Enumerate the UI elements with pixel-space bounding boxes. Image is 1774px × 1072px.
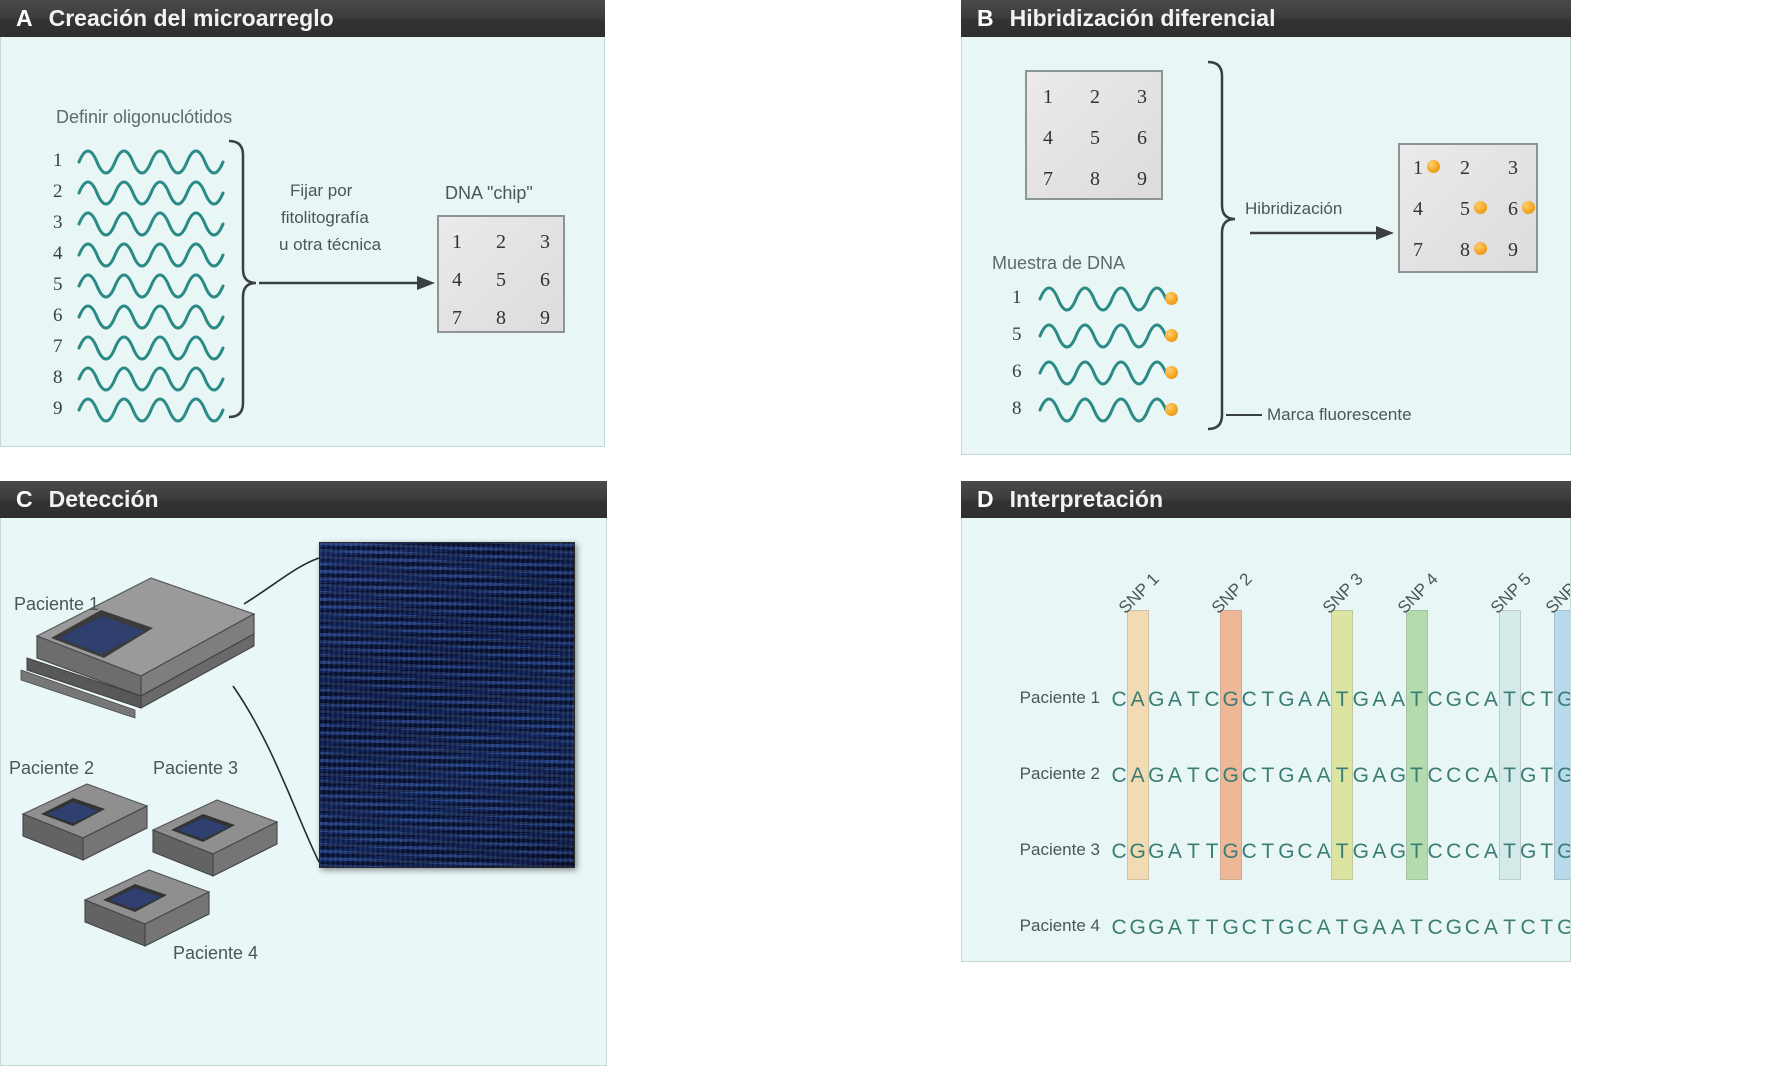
panel-c-title: Detección (49, 486, 159, 513)
panel-b-title: Hibridización diferencial (1010, 5, 1276, 32)
result-cell: 4 (1413, 198, 1423, 221)
fluorescent-dot (1165, 366, 1178, 379)
hybridization-arrow-label: Hibridización (1245, 199, 1342, 219)
hybridization-hit-dot (1522, 201, 1535, 214)
row-patient-label: Paciente 1 (1020, 688, 1100, 708)
panel-c-header: C Detección (0, 481, 607, 518)
hybridization-hit-dot (1427, 160, 1440, 173)
sequence-row: Paciente 2 CAGATCGCTGAATGAGTCCCATGTGT (1110, 764, 1571, 788)
panel-a-title: Creación del microarreglo (49, 5, 334, 32)
chip-cell: 2 (496, 231, 506, 254)
patient-4-label: Paciente 4 (173, 943, 258, 964)
device-patient-4 (85, 870, 209, 946)
hybridization-hit-dot (1474, 201, 1487, 214)
patient-2-label: Paciente 2 (9, 758, 94, 779)
panel-b-letter: B (977, 5, 994, 32)
panel-d-header: D Interpretación (961, 481, 1571, 518)
chip-cell: 3 (540, 231, 550, 254)
panel-a-header: A Creación del microarreglo (0, 0, 605, 37)
chip-cell: 8 (496, 307, 506, 330)
chip-cell: 9 (540, 307, 550, 330)
result-cell: 6 (1508, 198, 1518, 221)
row-sequence: CAGATCGCTGAATGAGTCCCATGTGT (1110, 764, 1571, 787)
chip-cell: 6 (540, 269, 550, 292)
panel-d: D Interpretación SNP 1SNP 2SNP 3SNP 4SNP… (961, 481, 1571, 962)
sequence-row: Paciente 1 CAGATCGCTGAATGAATCGCATCTGT (1110, 688, 1571, 712)
process-line-2: fitolitografía (281, 208, 369, 228)
panel-c-body: Paciente 1 Paciente 2 Paciente 3 Pacient… (0, 518, 607, 1066)
panel-b: B Hibridización diferencial 1 2 3 4 5 6 … (961, 0, 1571, 455)
panel-c: C Detección (0, 481, 607, 1066)
device-patient-2 (23, 784, 147, 860)
panel-c-letter: C (16, 486, 33, 513)
row-sequence: CAGATCGCTGAATGAATCGCATCTGT (1110, 688, 1571, 711)
dna-chip-grid: 1 2 3 4 5 6 7 8 9 (437, 215, 565, 333)
patient-3-label: Paciente 3 (153, 758, 238, 779)
hybridization-hit-dot (1474, 242, 1487, 255)
panel-a: A Creación del microarreglo Definir olig… (0, 0, 605, 447)
panel-b-body: 1 2 3 4 5 6 7 8 9 Muestra de DNA 1 5 6 8 (961, 37, 1571, 455)
panel-d-body: SNP 1SNP 2SNP 3SNP 4SNP 5SNP 6 Paciente … (961, 518, 1571, 962)
patient-1-label: Paciente 1 (14, 594, 99, 615)
sequence-row: Paciente 4 CGGATTGCTGCATGAATCGCATCTGT (1110, 916, 1571, 940)
result-cell: 5 (1460, 198, 1470, 221)
chip-cell: 7 (452, 307, 462, 330)
device-patient-3 (153, 800, 277, 876)
result-cell: 1 (1413, 157, 1423, 180)
fluorescent-dot (1165, 403, 1178, 416)
panel-a-letter: A (16, 5, 33, 32)
chip-cell: 4 (452, 269, 462, 292)
row-sequence: CGGATTGCTGCATGAGTCCCATGTGT (1110, 840, 1571, 863)
fluorescent-dot (1165, 292, 1178, 305)
process-line-3: u otra técnica (279, 235, 381, 255)
panel-b-header: B Hibridización diferencial (961, 0, 1571, 37)
hybridized-chip-grid: 1 2 3 4 5 6 7 8 9 (1398, 143, 1538, 273)
chip-cell: 5 (496, 269, 506, 292)
result-cell: 7 (1413, 239, 1423, 262)
result-cell: 2 (1460, 157, 1470, 180)
result-cell: 9 (1508, 239, 1518, 262)
panel-d-letter: D (977, 486, 994, 513)
process-line-1: Fijar por (290, 181, 352, 201)
row-patient-label: Paciente 4 (1020, 916, 1100, 936)
microarray-figure: A Creación del microarreglo Definir olig… (0, 0, 1774, 1072)
row-patient-label: Paciente 3 (1020, 840, 1100, 860)
interpretation-stage: SNP 1SNP 2SNP 3SNP 4SNP 5SNP 6 Paciente … (962, 518, 1571, 962)
result-cell: 3 (1508, 157, 1518, 180)
sequence-row: Paciente 3 CGGATTGCTGCATGAGTCCCATGTGT (1110, 840, 1571, 864)
result-cell: 8 (1460, 239, 1470, 262)
row-sequence: CGGATTGCTGCATGAATCGCATCTGT (1110, 916, 1571, 939)
row-patient-label: Paciente 2 (1020, 764, 1100, 784)
chip-cell: 1 (452, 231, 462, 254)
fluorescent-dot (1165, 329, 1178, 342)
dna-chip-caption: DNA "chip" (445, 183, 533, 204)
fluorescent-mark-label: Marca fluorescente (1267, 405, 1412, 425)
panel-a-body: Definir oligonuclótidos 1 2 3 4 5 6 7 8 … (0, 37, 605, 447)
panel-d-title: Interpretación (1010, 486, 1163, 513)
